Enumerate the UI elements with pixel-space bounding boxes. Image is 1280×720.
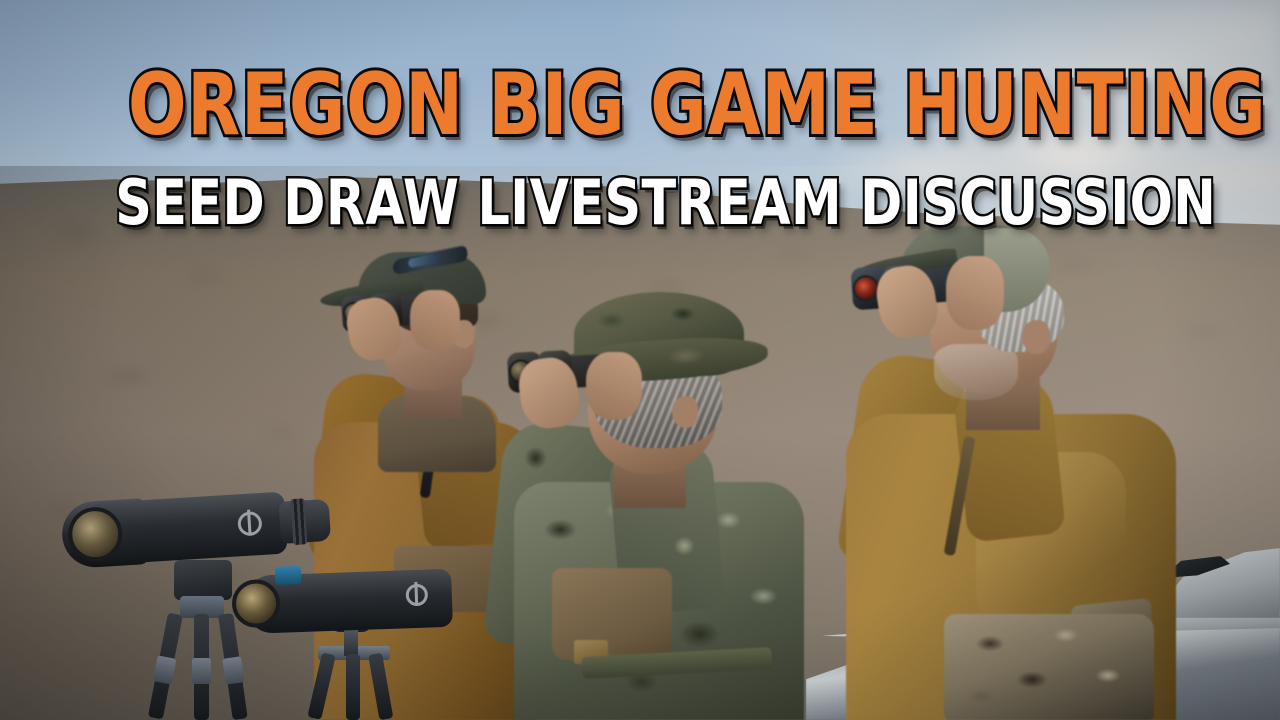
hunter-right-ear — [1022, 320, 1050, 354]
title-overlay: OREGON BIG GAME HUNTING SEED DRAW LIVEST… — [0, 0, 1280, 260]
tripod-leg-joint — [153, 655, 177, 684]
video-thumbnail: OREGON BIG GAME HUNTING SEED DRAW LIVEST… — [0, 0, 1280, 720]
hunter-right-hand-right — [946, 256, 1004, 330]
spotting-scope-upper — [60, 485, 363, 569]
hunter-right — [826, 216, 1192, 720]
spotting-scope-lower — [227, 565, 489, 636]
hunter-right-beard — [934, 344, 1018, 400]
scope-zoom-ring — [290, 498, 307, 545]
tripod-leg — [194, 614, 209, 720]
tripod-leg-joint — [222, 656, 244, 684]
tripod-head — [174, 560, 232, 600]
scope-focus-knob — [275, 566, 302, 585]
thumbnail-title: OREGON BIG GAME HUNTING — [128, 62, 1152, 148]
tripod-leg — [307, 652, 335, 719]
foreground-optics — [0, 470, 470, 720]
hunter-center-hand-right — [586, 352, 642, 420]
tripod-leg — [148, 613, 183, 720]
hunter-right-camo-pack — [944, 614, 1154, 720]
hunter-center-ear — [672, 396, 698, 428]
tripod-leg — [346, 654, 360, 720]
hunter-center — [490, 292, 820, 720]
hunter-center-bino-harness — [552, 568, 672, 660]
tripod-leg-joint — [192, 658, 211, 684]
thumbnail-subtitle: SEED DRAW LIVESTREAM DISCUSSION — [115, 172, 1165, 234]
tripod-leg — [368, 653, 393, 720]
hunter-left-hand-right — [410, 290, 460, 350]
